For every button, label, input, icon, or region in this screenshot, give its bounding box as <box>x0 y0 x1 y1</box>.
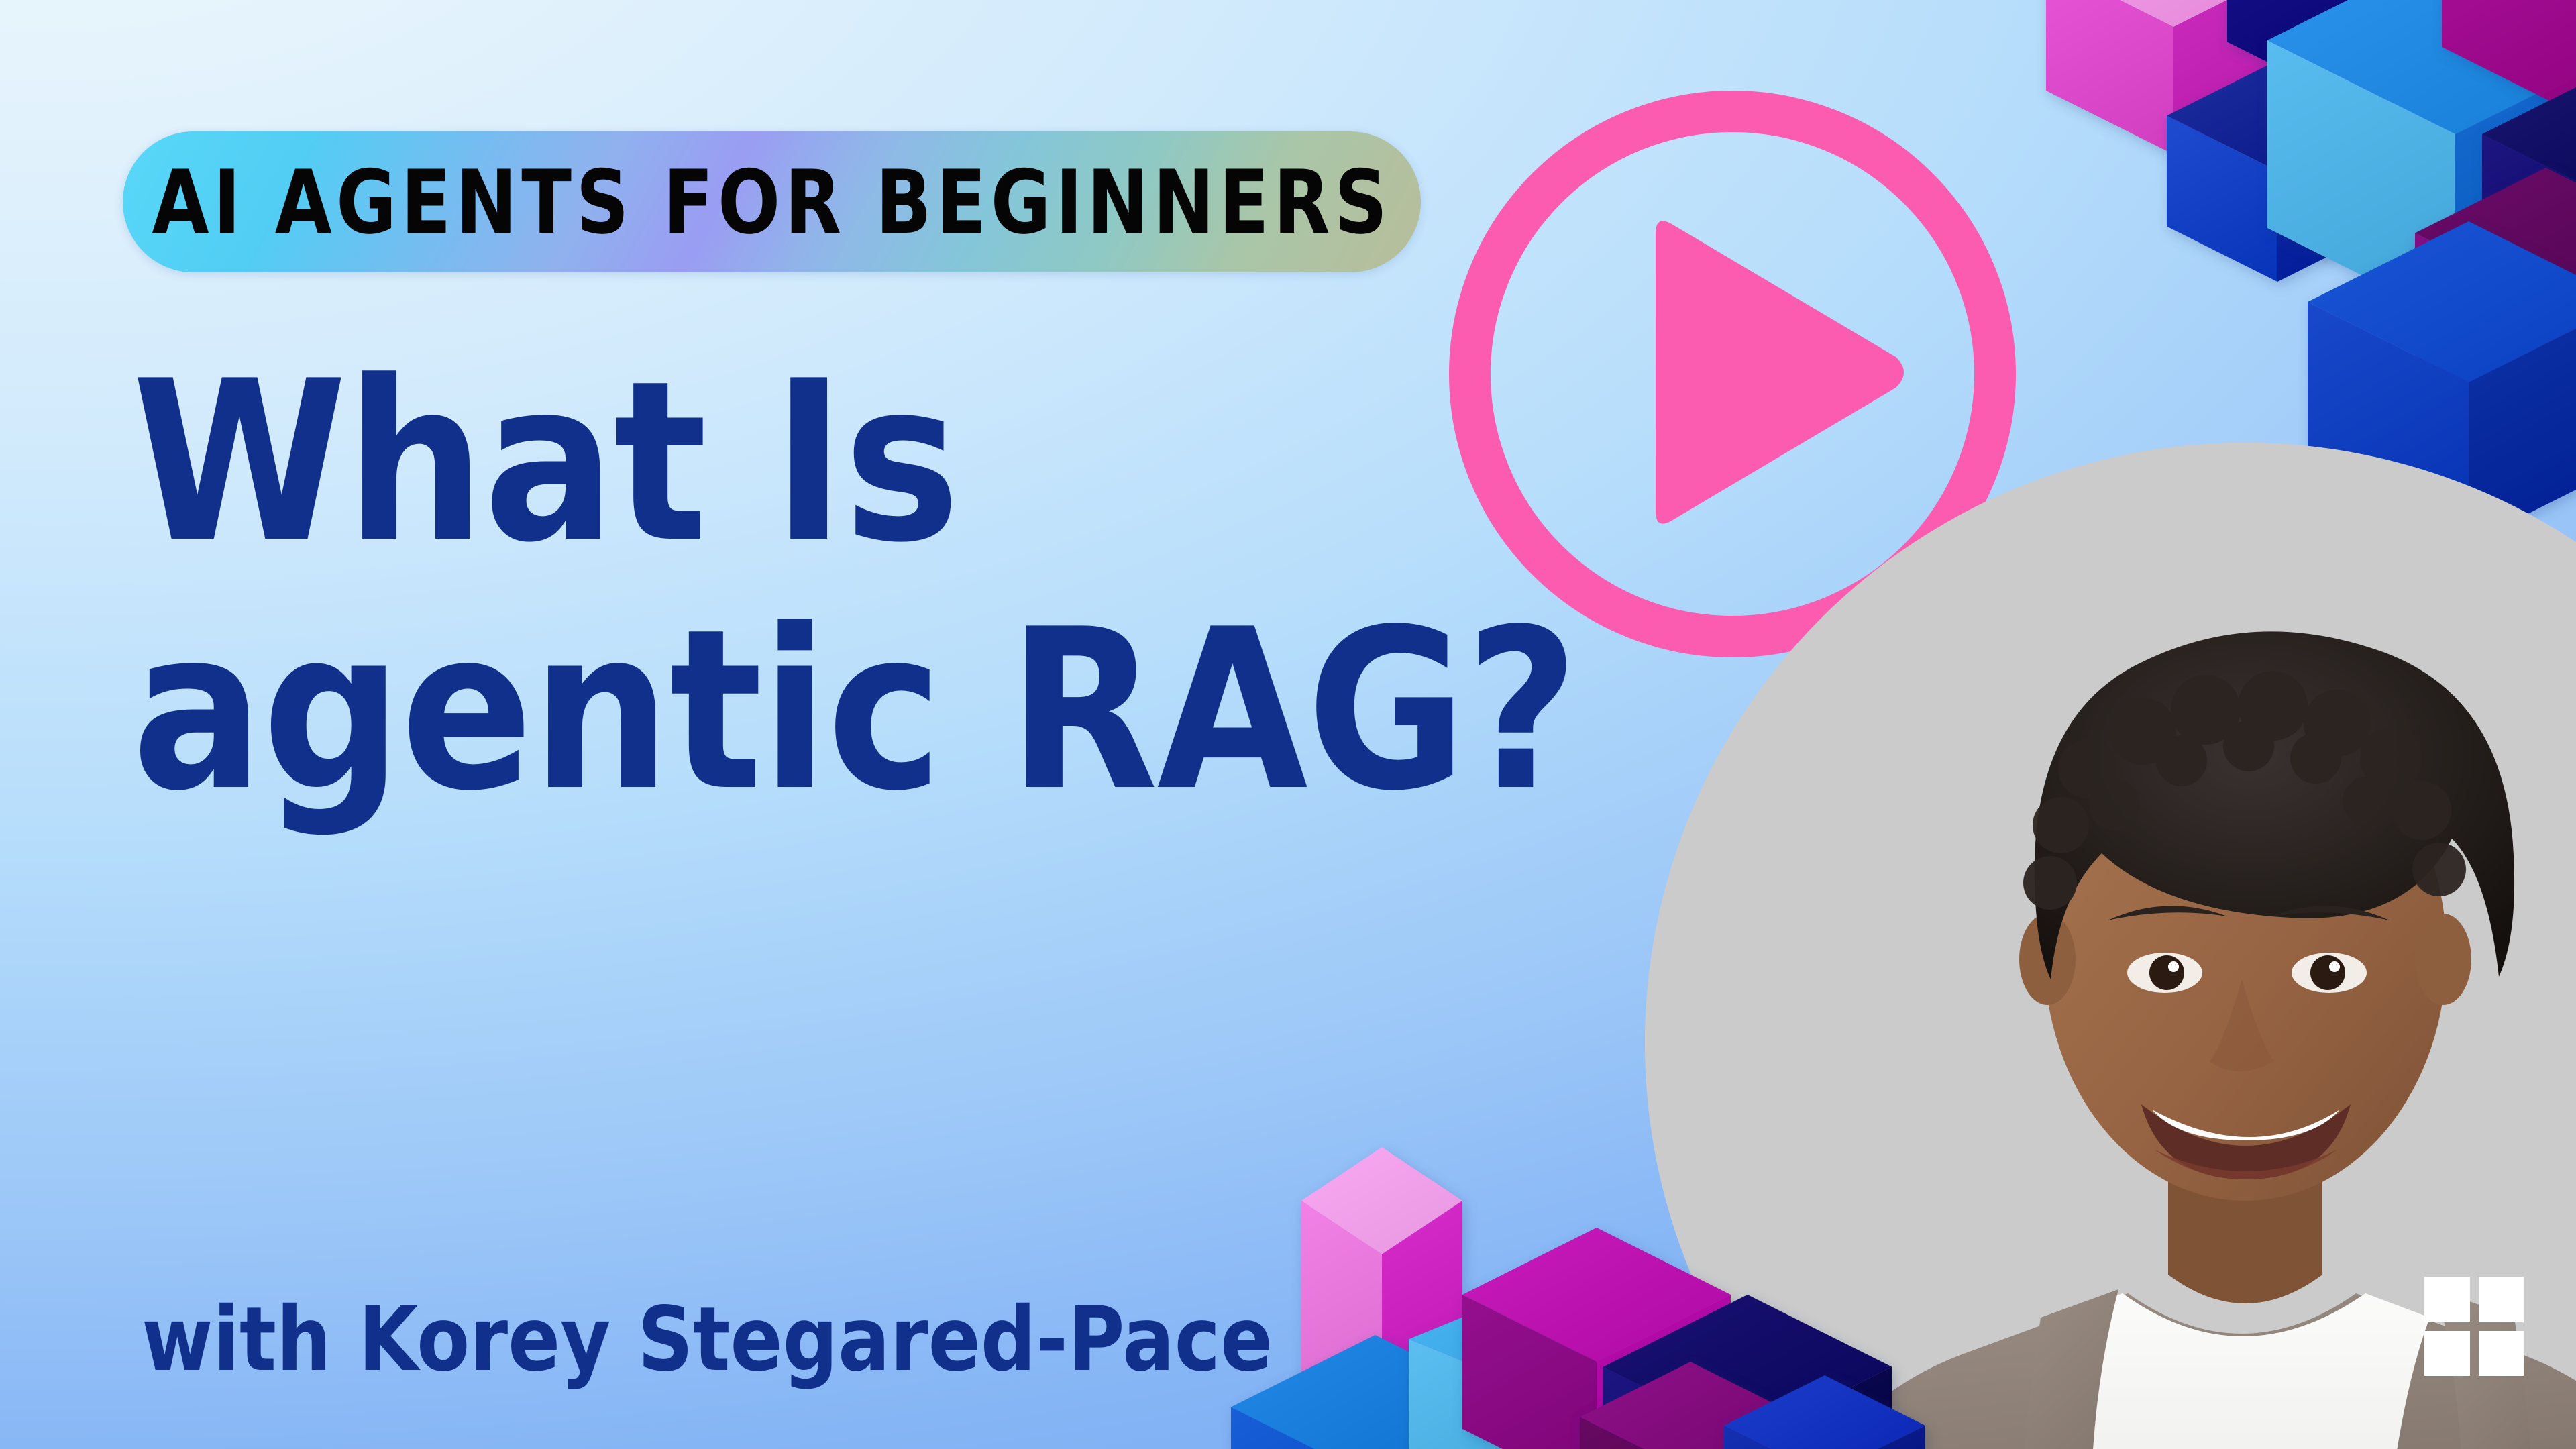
series-badge-label: AI AGENTS FOR BEGINNERS <box>152 151 1391 254</box>
iso-cube-1 <box>2046 0 2301 154</box>
iso-cube-2 <box>1231 1335 1519 1449</box>
iso-cube-face <box>2167 60 2388 282</box>
iso-cube-face <box>2415 168 2576 429</box>
iso-cube-face <box>1231 1335 1519 1449</box>
iso-cube-face <box>1231 1335 1519 1449</box>
iso-cube-face <box>2482 74 2576 315</box>
iso-cube-7 <box>2415 168 2576 429</box>
iso-cube-face <box>1301 1147 1462 1449</box>
iso-cube-face <box>2442 0 2576 114</box>
iso-cube-face <box>2267 0 2576 322</box>
iso-cube-face <box>2267 0 2576 322</box>
iso-cube-face <box>2167 60 2388 282</box>
iso-cube-face <box>2442 0 2576 114</box>
iso-cube-5 <box>2442 0 2576 114</box>
presenter-name: with Korey Stegared-Pace <box>142 1288 1273 1391</box>
iso-cube-face <box>2482 74 2576 315</box>
iso-cube-face <box>2227 0 2516 114</box>
video-thumbnail-card: AI AGENTS FOR BEGINNERS What Is agentic … <box>0 0 2576 1449</box>
iso-cube-face <box>2442 0 2576 114</box>
iso-cube-face <box>2046 0 2301 154</box>
iso-cube-face <box>2415 168 2576 429</box>
iso-cube-face <box>2227 0 2516 114</box>
iso-cube-face <box>1409 1298 1610 1449</box>
page-title: What Is agentic RAG? <box>132 339 1546 835</box>
iso-cube-face <box>2482 74 2576 315</box>
iso-cube-4 <box>2267 0 2576 322</box>
ms-logo-tile-3 <box>2424 1331 2470 1377</box>
iso-cube-face <box>1301 1147 1462 1449</box>
ms-logo-tile-4 <box>2479 1331 2524 1377</box>
title-line-2: agentic RAG? <box>132 587 1546 835</box>
iso-cube-face <box>2046 0 2301 154</box>
iso-cube-3 <box>1409 1298 1610 1449</box>
iso-cube-face <box>2415 168 2576 429</box>
ms-logo-tile-2 <box>2479 1277 2524 1322</box>
microsoft-logo-icon <box>2424 1277 2524 1376</box>
iso-cube-face <box>1409 1298 1610 1449</box>
series-badge: AI AGENTS FOR BEGINNERS <box>123 131 1421 272</box>
iso-cube-1 <box>1301 1147 1462 1449</box>
ms-logo-tile-1 <box>2424 1277 2470 1322</box>
iso-cube-face <box>2267 0 2576 322</box>
iso-cube-2 <box>2227 0 2516 114</box>
iso-cube-6 <box>2482 74 2576 315</box>
iso-cube-face <box>2167 60 2388 282</box>
iso-cube-face <box>2046 0 2301 154</box>
iso-cube-face <box>1231 1335 1519 1449</box>
iso-cube-face <box>2227 0 2516 114</box>
title-line-1: What Is <box>132 339 1546 587</box>
iso-cube-face <box>1409 1298 1610 1449</box>
iso-cube-face <box>1301 1147 1462 1449</box>
iso-cube-3 <box>2167 60 2388 282</box>
